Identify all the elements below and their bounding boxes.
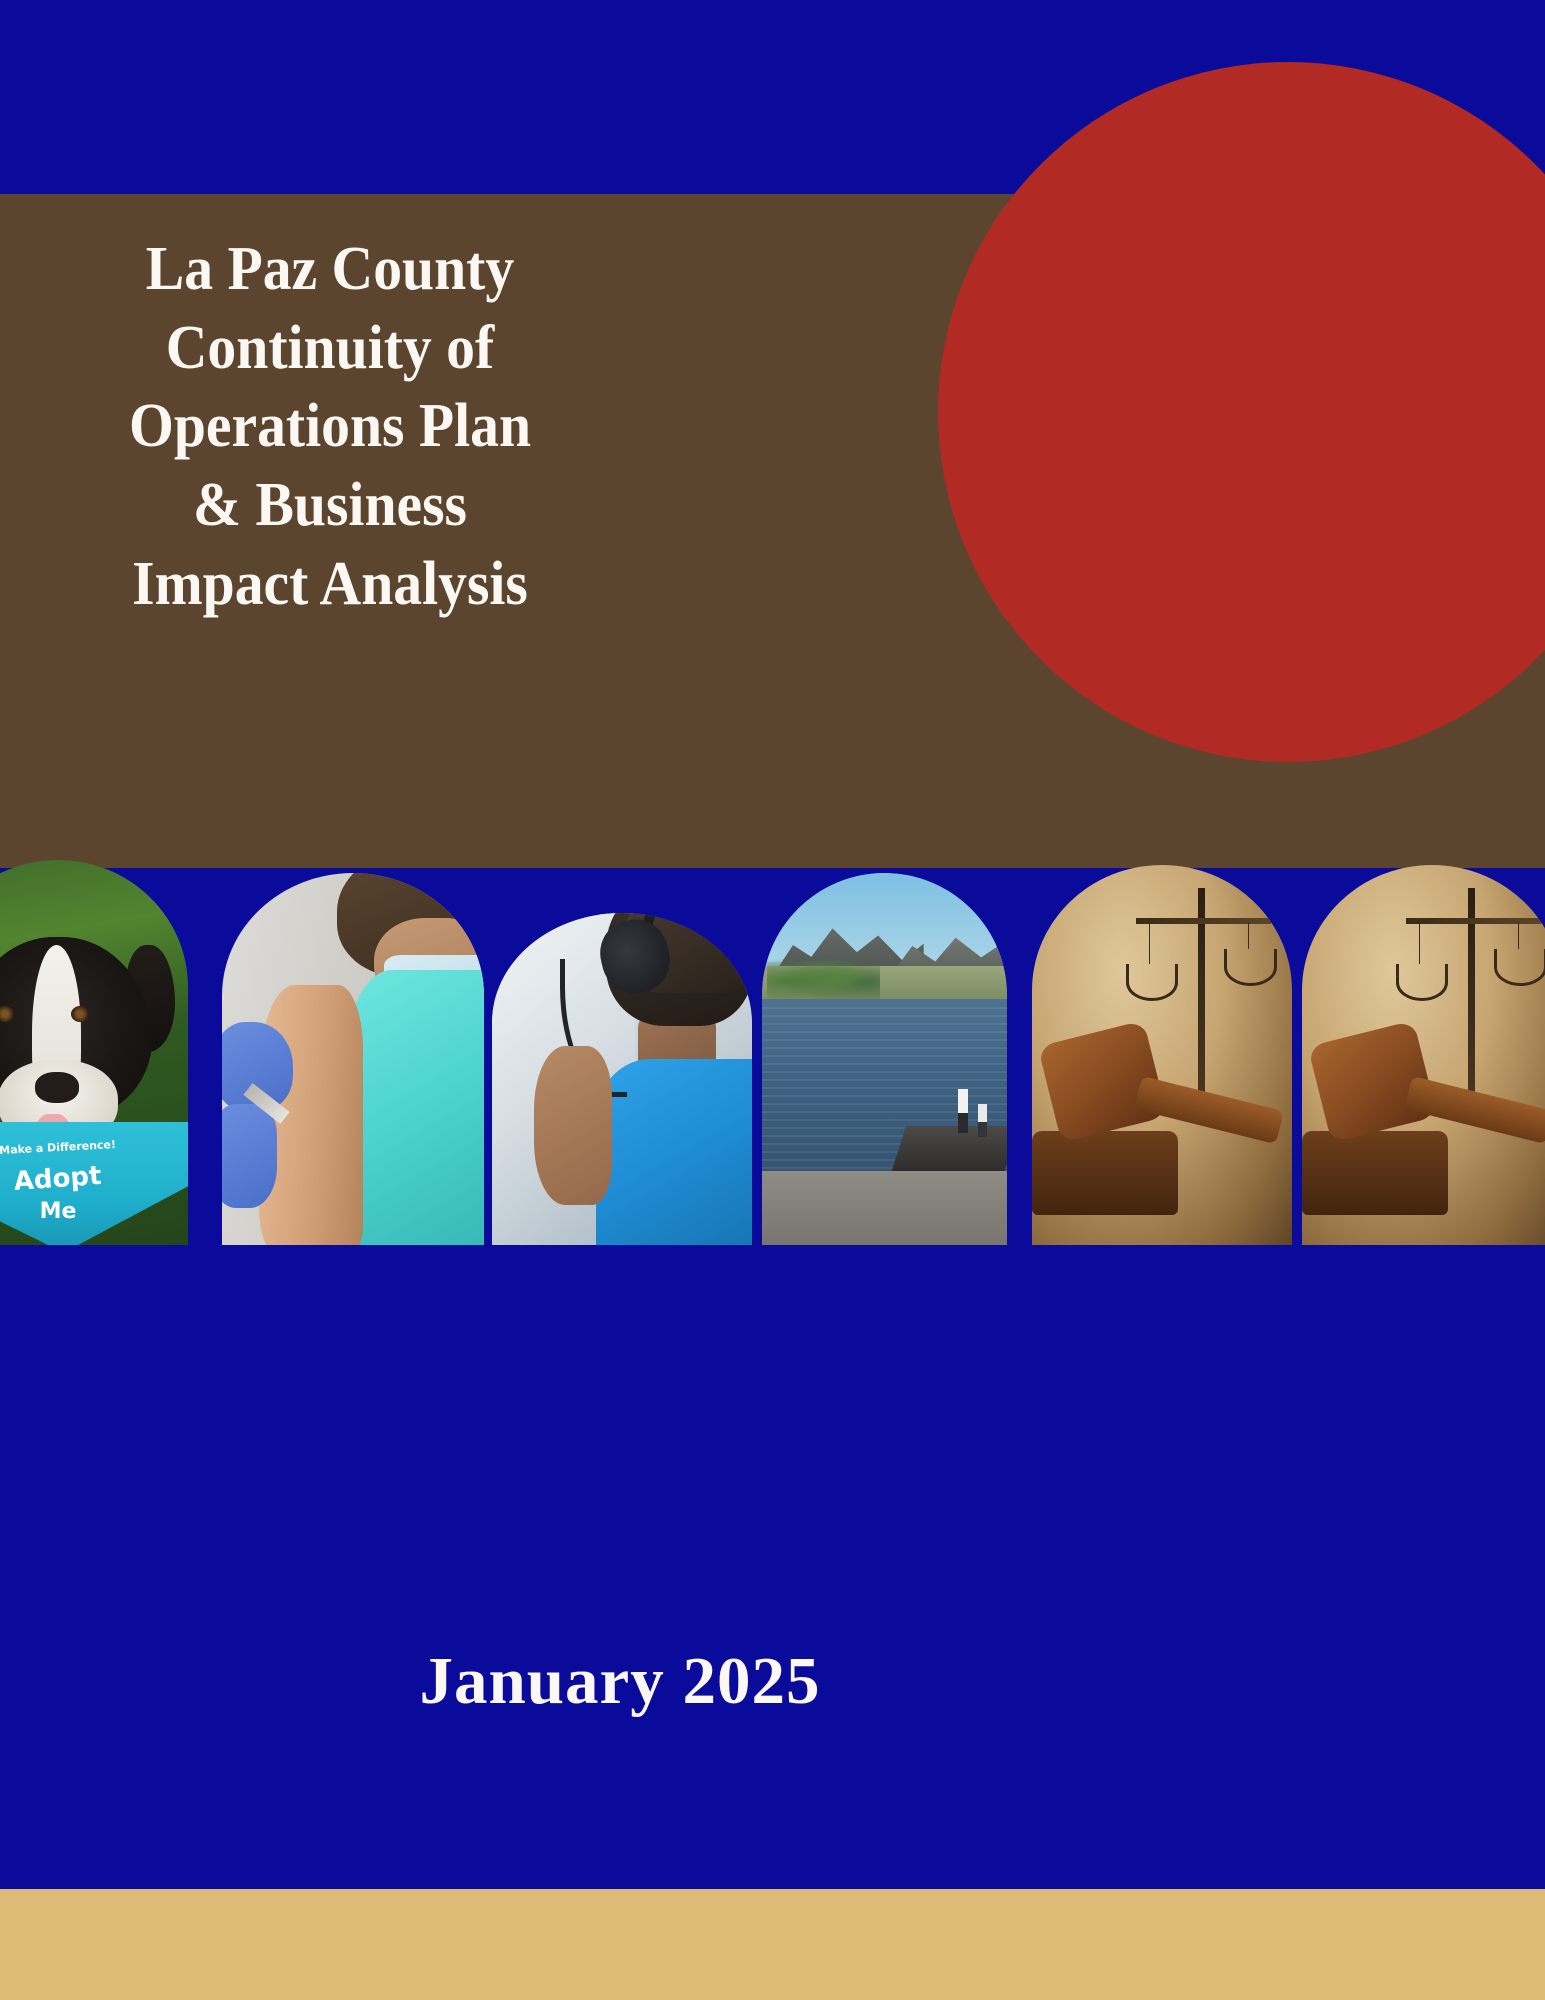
title-line-1: La Paz County xyxy=(23,230,637,309)
photo-arch-call-center xyxy=(492,913,752,1245)
nurse-glove-lower-shape xyxy=(222,1104,277,1208)
scales-wire-left-shape-2 xyxy=(1419,922,1420,964)
shore-trees-shape xyxy=(767,955,880,1000)
gavel-scales-photo xyxy=(1032,865,1292,1245)
gavel-scales-photo-continued xyxy=(1302,865,1545,1245)
photo-arch-justice xyxy=(1032,865,1292,1245)
scales-wire-right-shape xyxy=(1248,922,1249,949)
person-seated-shape xyxy=(978,1104,988,1137)
gavel-sound-block-shape-2 xyxy=(1302,1131,1448,1215)
photo-arch-justice-right-crop xyxy=(1302,865,1545,1245)
photo-arch-vaccination xyxy=(222,873,484,1245)
photo-arch-river-marina xyxy=(762,873,1007,1245)
scales-pan-right-shape-2 xyxy=(1494,949,1545,986)
operator-hand-shape xyxy=(534,1046,612,1205)
scales-pan-left-shape-2 xyxy=(1396,964,1449,1001)
scales-wire-left-shape xyxy=(1149,922,1150,964)
photo-arch-strip: Make a Difference! Adopt Me xyxy=(0,855,1545,1245)
person-standing-shape xyxy=(958,1089,968,1134)
title-line-3: Operations Plan xyxy=(23,387,637,466)
vaccination-photo xyxy=(222,873,484,1245)
scales-pan-left-shape xyxy=(1126,964,1179,1001)
footer-band xyxy=(0,1889,1545,2000)
foreground-ground-shape xyxy=(762,1171,1007,1245)
document-cover-page: La Paz County Continuity of Operations P… xyxy=(0,0,1545,2000)
title-line-4: & Business xyxy=(23,466,637,545)
floating-dock-shape xyxy=(892,1126,1007,1171)
scales-pan-right-shape xyxy=(1224,949,1277,986)
title-line-2: Continuity of xyxy=(23,309,637,388)
page-title: La Paz County Continuity of Operations P… xyxy=(23,230,637,624)
publication-date: January 2025 xyxy=(0,1643,1240,1720)
patient-shirt-shape xyxy=(348,970,484,1245)
scales-beam-shape xyxy=(1136,918,1271,924)
call-center-photo xyxy=(492,913,752,1245)
title-line-5: Impact Analysis xyxy=(23,545,637,624)
scales-wire-right-shape-2 xyxy=(1518,922,1519,949)
scales-beam-shape-2 xyxy=(1406,918,1541,924)
gavel-sound-block-shape xyxy=(1032,1131,1178,1215)
river-marina-photo xyxy=(762,873,1007,1245)
bandana-caption-line-3: Me xyxy=(0,1199,178,1224)
dog-nose-shape xyxy=(35,1072,79,1103)
photo-arch-shelter-dog: Make a Difference! Adopt Me xyxy=(0,860,188,1245)
shelter-dog-photo: Make a Difference! Adopt Me xyxy=(0,860,188,1245)
